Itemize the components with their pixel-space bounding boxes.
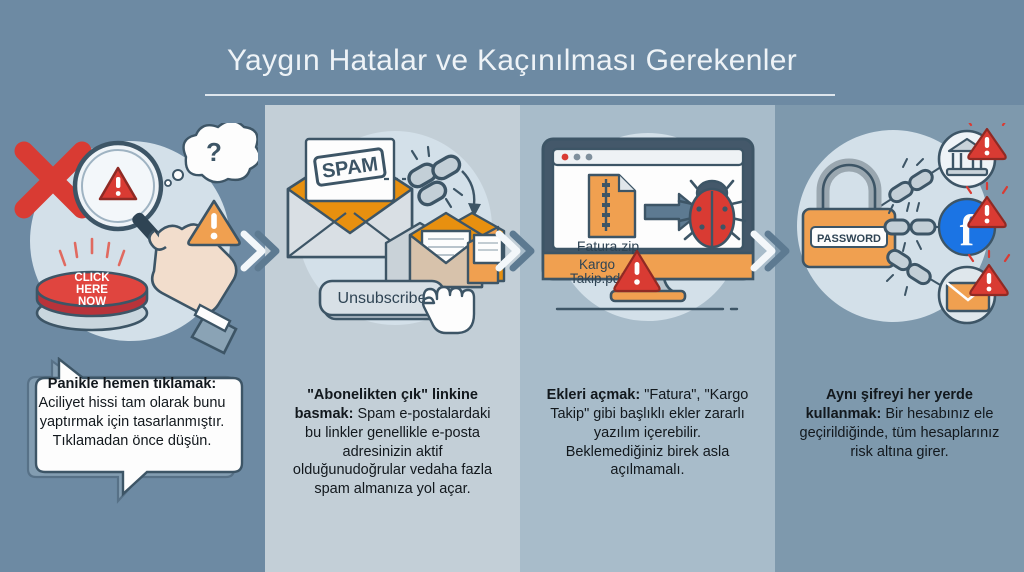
panel-1-speech-bubble: Panikle hemen tıklamak: Aciliyet hissi t… (18, 357, 246, 505)
title-underline (205, 94, 835, 96)
separator-chevron-3 (750, 228, 790, 274)
header-band: Yaygın Hatalar ve Kaçınılması Gerekenler (0, 0, 1024, 105)
click-here-now-button: CLICK HERE NOW (37, 272, 147, 330)
separator-chevron-1 (240, 228, 280, 274)
panel-3-caption: Ekleri açmak: "Fatura", "Kargo Takip" gi… (545, 386, 750, 480)
button-label-line3: NOW (77, 296, 105, 308)
panel-1-caption-heading: Panikle hemen tıklamak: (48, 376, 216, 392)
page-title: Yaygın Hatalar ve Kaçınılması Gerekenler (0, 44, 1024, 78)
facebook-f-glyph: f (959, 206, 975, 255)
password-reuse-illustration: PASSWORD (781, 123, 1019, 338)
panel-2-caption: "Abonelikten çık" linkine basmak: Spam e… (290, 386, 495, 499)
panel-panic-click: ? (0, 105, 265, 572)
separator-chevron-2 (495, 228, 535, 274)
panel-attachments: Fatura.zip Kargo Takip.pdf (520, 105, 775, 572)
malicious-attachment-illustration: Fatura.zip Kargo Takip.pdf (527, 123, 769, 338)
button-label-line2: HERE (76, 284, 108, 296)
zip-file-label: Fatura.zip (576, 238, 638, 254)
unsubscribe-link-illustration: SPAM (272, 123, 514, 338)
button-label-line1: CLICK (74, 272, 110, 284)
thought-question-mark: ? (206, 137, 222, 167)
panel-4-caption: Aynı şifreyi her yerde kullanmak: Bir he… (797, 386, 1002, 461)
zip-file-icon (589, 175, 635, 237)
panel-1-caption-body: Aciliyet hissi tam olarak bunu yaptırmak… (39, 395, 226, 449)
panel-1-caption: Panikle hemen tıklamak: Aciliyet hissi t… (32, 375, 232, 452)
cursor-hand-icon (423, 287, 474, 333)
panel-3-caption-heading: Ekleri açmak: (547, 387, 641, 403)
padlock-label: PASSWORD (817, 233, 881, 245)
panel-password-reuse: PASSWORD (775, 105, 1024, 572)
warning-triangle-icon (186, 197, 242, 252)
pdf-file-label-line1: Kargo (578, 257, 614, 272)
infographic-canvas: Yaygın Hatalar ve Kaçınılması Gerekenler… (0, 0, 1024, 572)
unsubscribe-button-label: Unsubscribe (337, 290, 426, 307)
panel-unsubscribe-link: SPAM (265, 105, 520, 572)
